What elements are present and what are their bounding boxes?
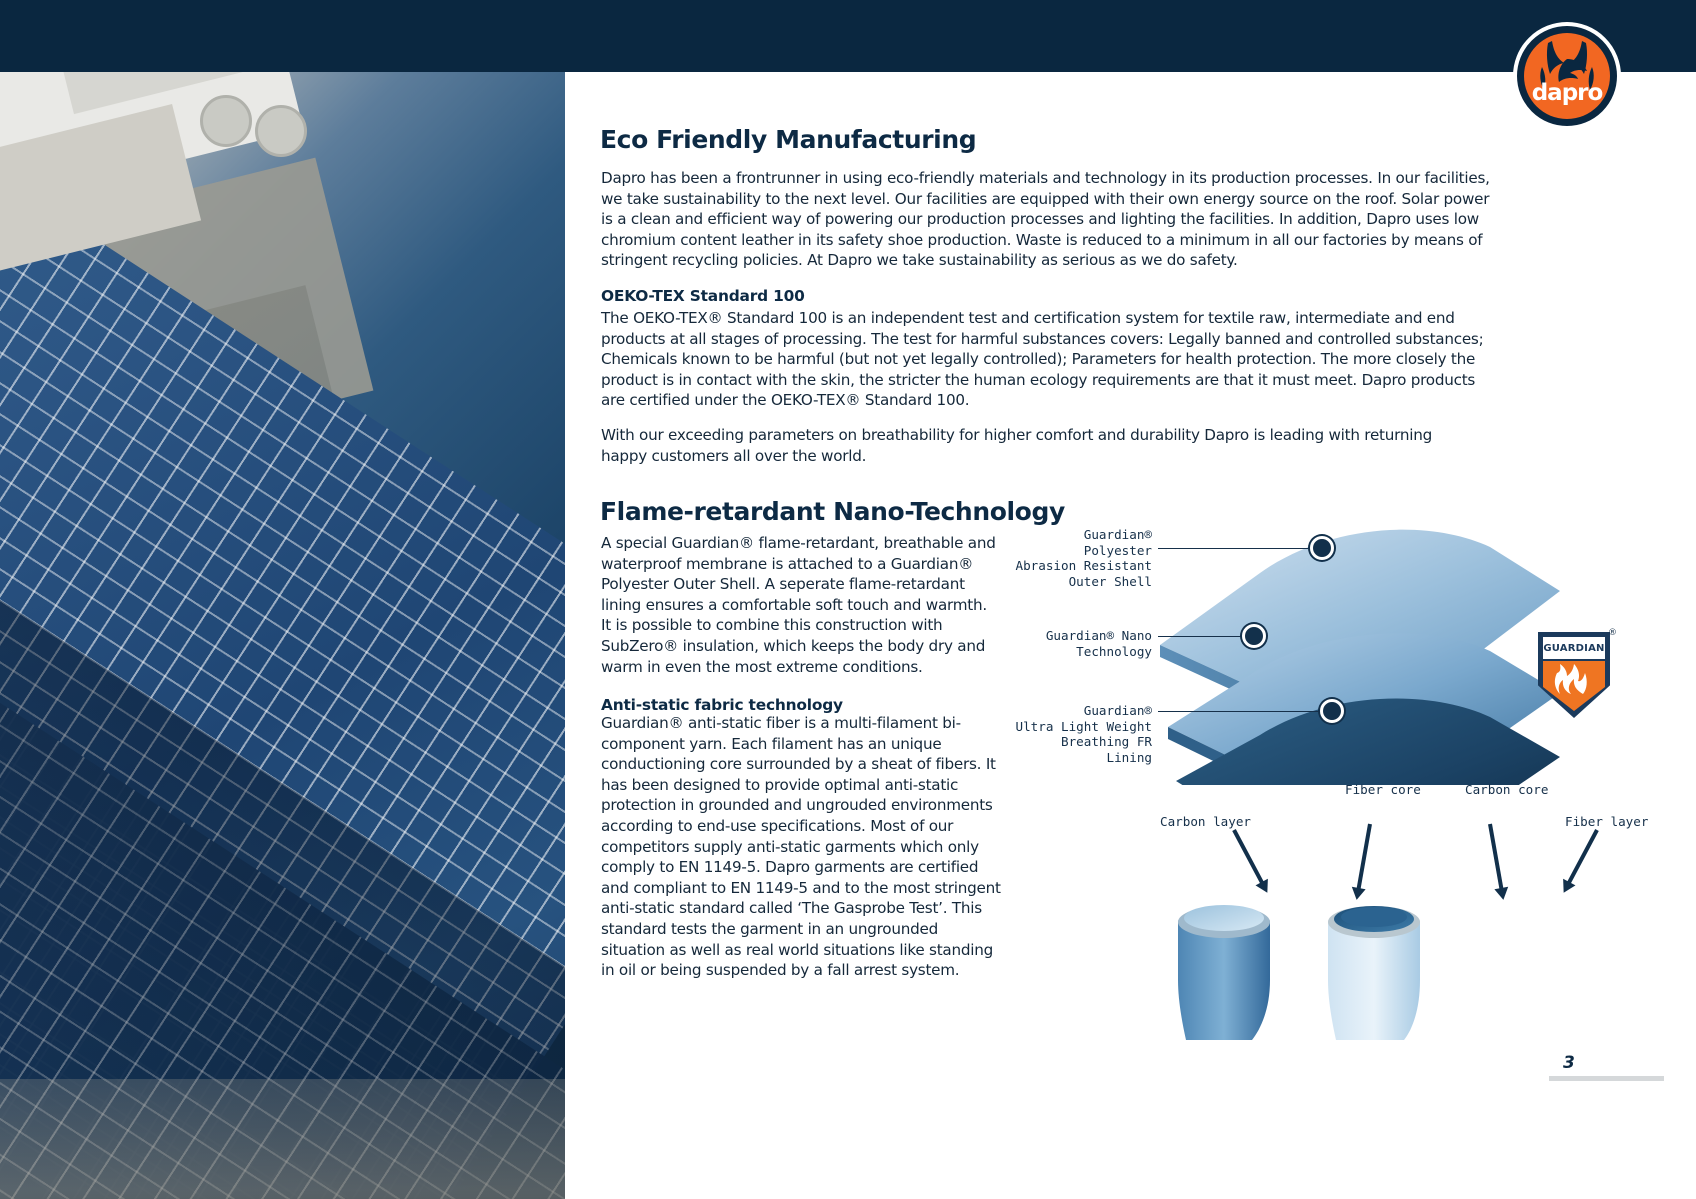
label-fiber-layer: Fiber layer — [1565, 814, 1648, 829]
flame-icon — [1543, 661, 1605, 711]
guardian-nameplate: GUARDIAN — [1543, 637, 1605, 659]
fiber-crosssection-diagram: Fiber core Carbon core Carbon layer Fibe… — [1140, 830, 1560, 980]
guardian-badge: GUARDIAN ® — [1538, 632, 1610, 718]
label-carbon-layer: Carbon layer — [1160, 814, 1251, 829]
antistatic-subtitle: Anti-static fabric technology — [601, 696, 843, 714]
callout-node-fr-lining — [1320, 699, 1344, 723]
page-number: 3 — [1549, 1053, 1664, 1073]
rooftop-tank-1 — [200, 95, 252, 147]
arrow-carbon-layer — [1232, 829, 1265, 886]
guardian-registered-mark: ® — [1608, 628, 1617, 638]
flame-glyph — [1543, 661, 1605, 711]
callout-nano-technology: Guardian® Nano Technology — [980, 628, 1152, 659]
leader-line-nano-technology — [1158, 636, 1250, 637]
callout-outer-shell: Guardian® Polyester Abrasion Resistant O… — [980, 527, 1152, 589]
eco-section-body: Dapro has been a frontrunner in using ec… — [601, 168, 1491, 271]
leader-line-fr-lining — [1158, 711, 1328, 712]
callout-node-nano-technology — [1242, 624, 1266, 648]
photo-foreground-ground — [0, 1079, 628, 1199]
leader-line-outer-shell — [1158, 548, 1318, 549]
callout-fr-lining: Guardian® Ultra Light Weight Breathing F… — [980, 703, 1152, 765]
guardian-label: GUARDIAN — [1543, 643, 1604, 654]
label-carbon-core: Carbon core — [1465, 782, 1548, 797]
oekotex-subtitle: OEKO-TEX Standard 100 — [601, 287, 805, 305]
oekotex-body: The OEKO-TEX® Standard 100 is an indepen… — [601, 308, 1491, 411]
flame-section-body: A special Guardian® flame-retardant, bre… — [601, 533, 996, 677]
arrow-fiber-core — [1356, 824, 1372, 892]
membrane-callouts: Guardian® Polyester Abrasion Resistant O… — [980, 495, 1540, 795]
label-fiber-core: Fiber core — [1345, 782, 1421, 797]
eco-section-title: Eco Friendly Manufacturing — [600, 125, 976, 154]
closing-paragraph: With our exceeding parameters on breatha… — [601, 425, 1441, 466]
callout-node-outer-shell — [1310, 536, 1334, 560]
antistatic-body: Guardian® anti-static fiber is a multi-f… — [601, 713, 1001, 981]
page-footer-rule — [1549, 1076, 1664, 1081]
page-footer: 3 — [1549, 1053, 1664, 1081]
fiber-strand-shapes — [1140, 890, 1560, 1040]
arrow-carbon-core — [1488, 824, 1504, 892]
solar-panel-photo — [0, 0, 628, 1199]
rooftop-tank-2 — [255, 105, 307, 157]
